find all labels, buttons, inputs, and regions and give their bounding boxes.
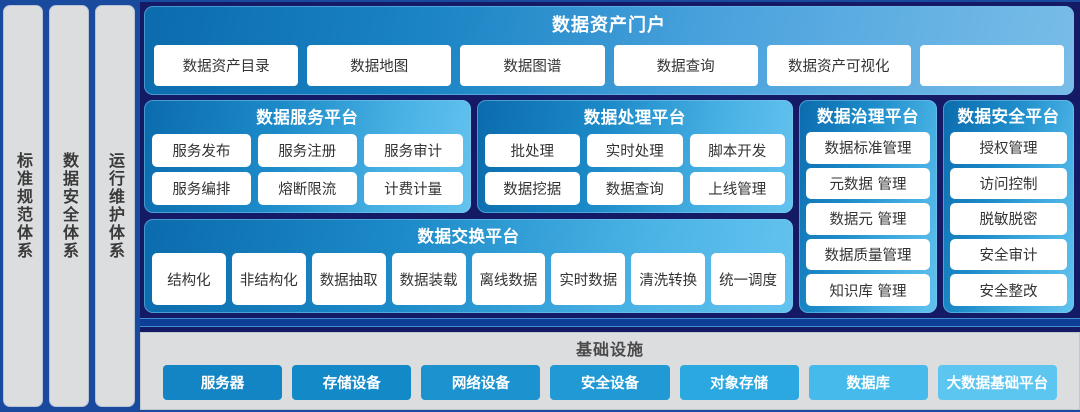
governance-item-data-element[interactable]: 数据元 管理 <box>806 203 930 235</box>
infra-item-storage[interactable]: 存储设备 <box>292 365 411 400</box>
security-item-security-audit[interactable]: 安全审计 <box>950 239 1067 271</box>
service-platform-title: 数据服务平台 <box>152 106 463 129</box>
security-platform-title: 数据安全平台 <box>950 105 1067 128</box>
processing-item-query[interactable]: 数据查询 <box>587 172 683 205</box>
service-item-publish[interactable]: 服务发布 <box>152 134 251 167</box>
security-item-authorization[interactable]: 授权管理 <box>950 132 1067 164</box>
processing-item-realtime[interactable]: 实时处理 <box>587 134 683 167</box>
service-item-orchestration[interactable]: 服务编排 <box>152 172 251 205</box>
exchange-item-structured[interactable]: 结构化 <box>152 253 226 305</box>
infrastructure-panel: 基础设施 服务器 存储设备 网络设备 安全设备 对象存储 数据库 大数据基础平台 <box>140 332 1080 410</box>
security-item-security-rectification[interactable]: 安全整改 <box>950 274 1067 306</box>
portal-item-empty[interactable] <box>920 45 1064 86</box>
exchange-item-cleansing[interactable]: 清洗转换 <box>631 253 705 305</box>
processing-platform-item-list: 批处理 实时处理 脚本开发 数据挖据 数据查询 上线管理 <box>485 134 786 205</box>
main-stack: 数据资产门户 数据资产目录 数据地图 数据图谱 数据查询 数据资产可视化 数据服… <box>140 2 1080 410</box>
data-governance-platform-panel: 数据治理平台 数据标准管理 元数据 管理 数据元 管理 数据质量管理 知识库 管… <box>799 100 937 313</box>
governance-item-knowledge-base[interactable]: 知识库 管理 <box>806 274 930 306</box>
infrastructure-item-list: 服务器 存储设备 网络设备 安全设备 对象存储 数据库 大数据基础平台 <box>151 365 1069 400</box>
service-item-circuit-breaker[interactable]: 熔断限流 <box>258 172 357 205</box>
exchange-item-extract[interactable]: 数据抽取 <box>312 253 386 305</box>
infra-item-bigdata-platform[interactable]: 大数据基础平台 <box>938 365 1057 400</box>
processing-platform-title: 数据处理平台 <box>485 106 786 129</box>
platform-zone: 数据服务平台 服务发布 服务注册 服务审计 服务编排 熔断限流 计费计量 数据处… <box>144 100 1074 313</box>
architecture-diagram: 标准规范体系 数据安全体系 运行维护体系 数据资产门户 数据资产目录 数据地图 … <box>0 0 1080 412</box>
processing-item-script-dev[interactable]: 脚本开发 <box>690 134 786 167</box>
sidebar-item-data-security[interactable]: 数据安全体系 <box>49 5 89 407</box>
processing-item-mining[interactable]: 数据挖据 <box>485 172 581 205</box>
platform-top-row: 数据服务平台 服务发布 服务注册 服务审计 服务编排 熔断限流 计费计量 数据处… <box>144 100 793 213</box>
sidebar-item-label: 标准规范体系 <box>15 152 31 260</box>
infra-item-server[interactable]: 服务器 <box>163 365 282 400</box>
portal-item-map[interactable]: 数据地图 <box>307 45 451 86</box>
exchange-item-unstructured[interactable]: 非结构化 <box>232 253 306 305</box>
sidebar-item-label: 数据安全体系 <box>61 152 77 260</box>
security-item-desensitization[interactable]: 脱敏脱密 <box>950 203 1067 235</box>
data-exchange-platform-panel: 数据交换平台 结构化 非结构化 数据抽取 数据装载 离线数据 实时数据 清洗转换… <box>144 219 793 313</box>
security-item-access-control[interactable]: 访问控制 <box>950 168 1067 200</box>
infra-item-object-storage[interactable]: 对象存储 <box>680 365 799 400</box>
governance-item-metadata[interactable]: 元数据 管理 <box>806 168 930 200</box>
service-item-audit[interactable]: 服务审计 <box>364 134 463 167</box>
security-platform-item-list: 授权管理 访问控制 脱敏脱密 安全审计 安全整改 <box>950 132 1067 306</box>
data-processing-platform-panel: 数据处理平台 批处理 实时处理 脚本开发 数据挖据 数据查询 上线管理 <box>477 100 794 213</box>
portal-item-graph[interactable]: 数据图谱 <box>460 45 604 86</box>
sidebar-item-label: 运行维护体系 <box>107 152 123 260</box>
service-platform-item-list: 服务发布 服务注册 服务审计 服务编排 熔断限流 计费计量 <box>152 134 463 205</box>
portal-title: 数据资产门户 <box>154 13 1064 39</box>
portal-item-query[interactable]: 数据查询 <box>614 45 758 86</box>
governance-platform-title: 数据治理平台 <box>806 105 930 128</box>
infrastructure-title: 基础设施 <box>151 338 1069 362</box>
governance-item-data-quality[interactable]: 数据质量管理 <box>806 239 930 271</box>
data-asset-portal-panel: 数据资产门户 数据资产目录 数据地图 数据图谱 数据查询 数据资产可视化 <box>144 6 1074 95</box>
infrastructure-divider <box>140 318 1080 327</box>
exchange-item-realtime-data[interactable]: 实时数据 <box>551 253 625 305</box>
exchange-item-offline-data[interactable]: 离线数据 <box>472 253 546 305</box>
service-item-register[interactable]: 服务注册 <box>258 134 357 167</box>
portal-item-catalog[interactable]: 数据资产目录 <box>154 45 298 86</box>
governance-item-data-standard[interactable]: 数据标准管理 <box>806 132 930 164</box>
infra-item-network[interactable]: 网络设备 <box>421 365 540 400</box>
platform-left-column: 数据服务平台 服务发布 服务注册 服务审计 服务编排 熔断限流 计费计量 数据处… <box>144 100 793 313</box>
processing-item-release-mgmt[interactable]: 上线管理 <box>690 172 786 205</box>
infra-item-security-device[interactable]: 安全设备 <box>550 365 669 400</box>
governance-platform-item-list: 数据标准管理 元数据 管理 数据元 管理 数据质量管理 知识库 管理 <box>806 132 930 306</box>
sidebar-item-standards[interactable]: 标准规范体系 <box>3 5 43 407</box>
infra-item-database[interactable]: 数据库 <box>809 365 928 400</box>
service-item-billing[interactable]: 计费计量 <box>364 172 463 205</box>
exchange-item-scheduling[interactable]: 统一调度 <box>711 253 785 305</box>
processing-item-batch[interactable]: 批处理 <box>485 134 581 167</box>
data-service-platform-panel: 数据服务平台 服务发布 服务注册 服务审计 服务编排 熔断限流 计费计量 <box>144 100 471 213</box>
exchange-platform-item-list: 结构化 非结构化 数据抽取 数据装载 离线数据 实时数据 清洗转换 统一调度 <box>152 253 785 305</box>
sidebar-item-operations[interactable]: 运行维护体系 <box>95 5 135 407</box>
vertical-pillars: 标准规范体系 数据安全体系 运行维护体系 <box>0 2 140 410</box>
exchange-platform-title: 数据交换平台 <box>152 225 785 248</box>
exchange-item-load[interactable]: 数据装载 <box>392 253 466 305</box>
data-security-platform-panel: 数据安全平台 授权管理 访问控制 脱敏脱密 安全审计 安全整改 <box>943 100 1074 313</box>
portal-item-visualization[interactable]: 数据资产可视化 <box>767 45 911 86</box>
portal-item-list: 数据资产目录 数据地图 数据图谱 数据查询 数据资产可视化 <box>154 45 1064 86</box>
